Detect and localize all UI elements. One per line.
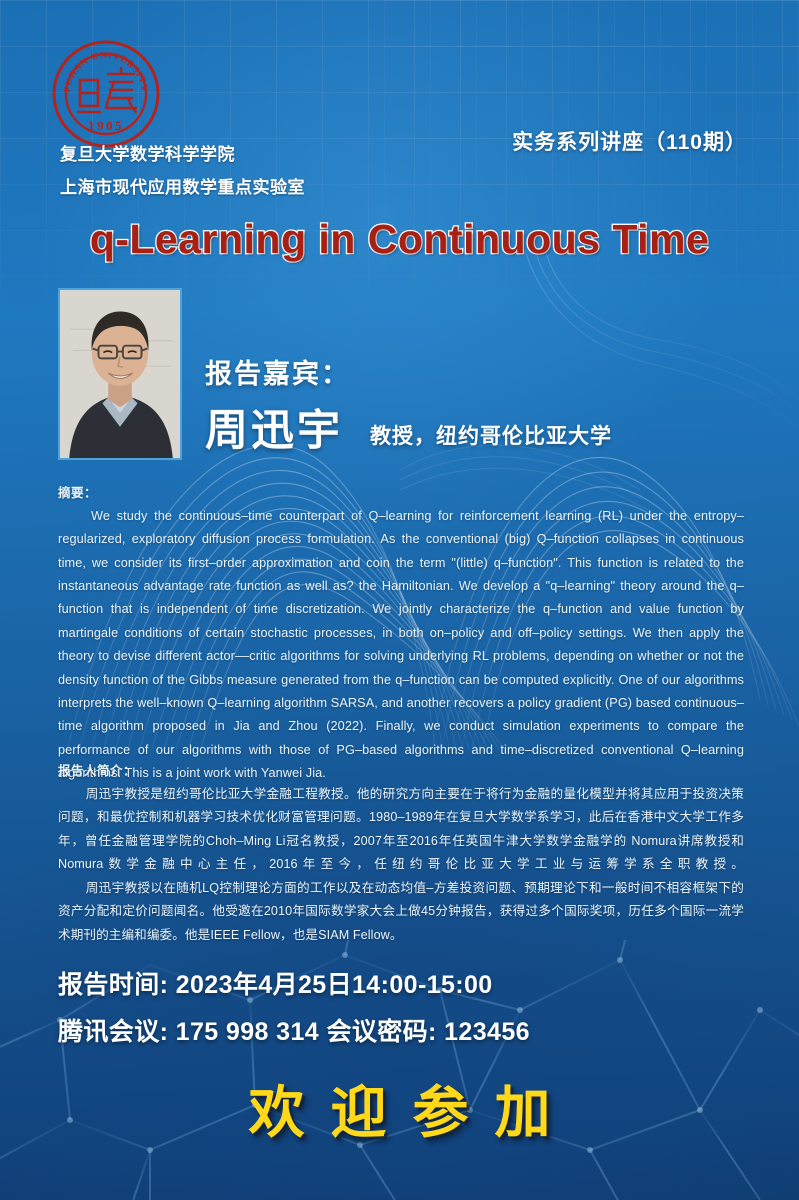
organization-block: 复旦大学数学科学学院 上海市现代应用数学重点实验室 [60,138,490,204]
abstract-body: We study the continuous–time counterpart… [58,505,744,785]
fudan-university-logo-icon: FUDAN UNIVERSITY 1905 [50,38,162,150]
speaker-affiliation: 教授，纽约哥伦比亚大学 [370,420,612,450]
biography-section: 报告人简介： 周迅宇教授是纽约哥伦比亚大学金融工程教授。他的研究方向主要在于将行… [58,760,744,947]
talk-time: 报告时间: 2023年4月25日14:00-15:00 [58,965,493,1001]
page-title: q-Learning in Continuous Time [0,216,799,263]
biography-heading: 报告人简介： [58,760,744,779]
seminar-poster: FUDAN UNIVERSITY 1905 复旦大学数学科学学院 上海市现代应用… [0,0,799,1200]
svg-text:1905: 1905 [88,118,124,133]
speaker-name: 周迅宇 [205,396,343,458]
abstract-section: 摘要： We study the continuous–time counter… [58,482,744,785]
speaker-label: 报告嘉宾： [205,352,350,391]
welcome-message: 欢迎参加 [0,1068,799,1149]
abstract-heading: 摘要： [58,482,744,501]
biography-paragraph-1: 周迅宇教授是纽约哥伦比亚大学金融工程教授。他的研究方向主要在于将行为金融的量化模… [58,783,744,877]
speaker-photo [58,288,182,460]
meeting-info: 腾讯会议: 175 998 314 会议密码: 123456 [58,1012,530,1048]
svg-text:FUDAN UNIVERSITY: FUDAN UNIVERSITY [62,50,150,93]
series-badge: 实务系列讲座（110期） [512,126,747,156]
biography-paragraph-2: 周迅宇教授以在随机LQ控制理论方面的工作以及在动态均值–方差投资问题、预期理论下… [58,877,744,947]
organization-line-1: 复旦大学数学科学学院 [60,138,490,171]
organization-line-2: 上海市现代应用数学重点实验室 [60,171,490,204]
